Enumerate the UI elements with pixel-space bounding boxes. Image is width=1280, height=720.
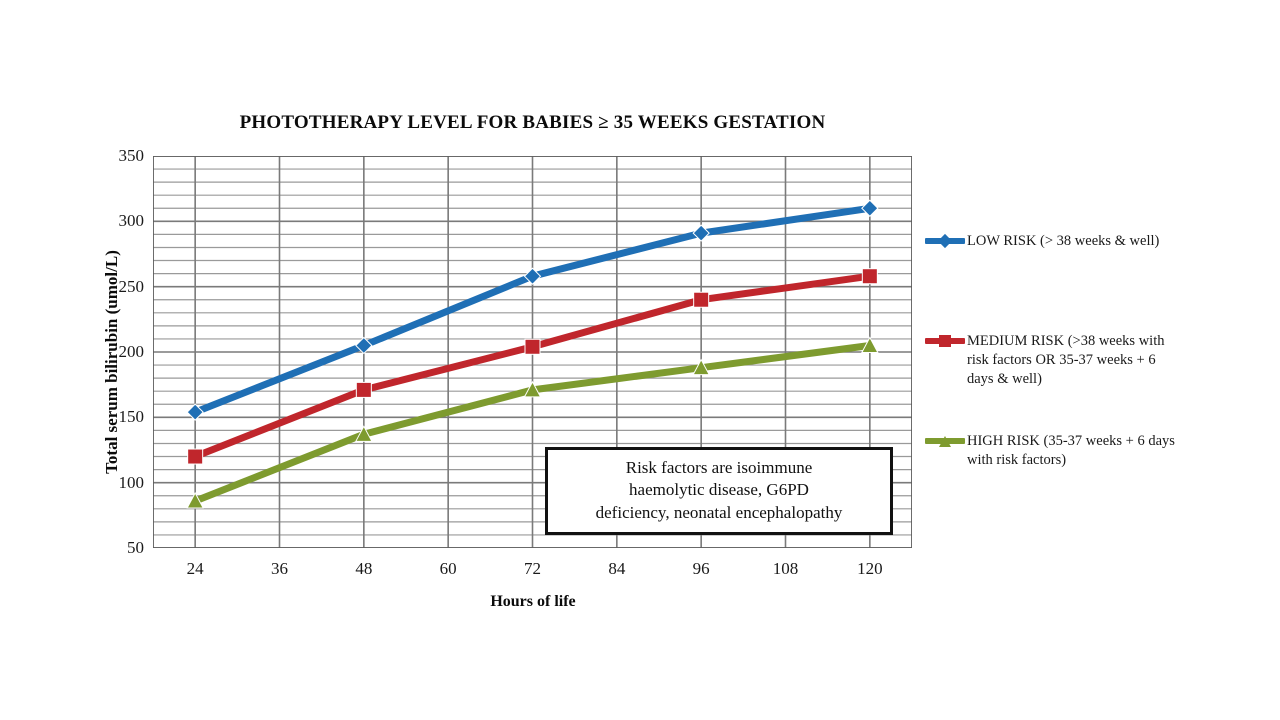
legend-item[interactable]: MEDIUM RISK (>38 weeks with risk factors… xyxy=(925,332,1175,389)
y-tick-label: 200 xyxy=(84,343,144,360)
y-axis-tick-labels: 50100150200250300350 xyxy=(78,156,144,548)
x-axis-tick-labels: 24364860728496108120 xyxy=(153,560,912,586)
data-point-marker xyxy=(862,269,877,284)
x-tick-label: 84 xyxy=(587,560,647,577)
annotation-line-2: haemolytic disease, G6PD xyxy=(556,479,882,501)
x-tick-label: 120 xyxy=(840,560,900,577)
data-point-marker xyxy=(188,449,203,464)
x-tick-label: 108 xyxy=(756,560,816,577)
legend-item[interactable]: LOW RISK (> 38 weeks & well) xyxy=(925,232,1175,251)
x-tick-label: 36 xyxy=(250,560,310,577)
data-point-marker xyxy=(356,382,371,397)
legend-label: LOW RISK (> 38 weeks & well) xyxy=(967,232,1159,251)
risk-factors-annotation: Risk factors are isoimmune haemolytic di… xyxy=(545,447,893,535)
y-tick-label: 300 xyxy=(84,212,144,229)
legend-label: MEDIUM RISK (>38 weeks with risk factors… xyxy=(967,332,1175,389)
data-point-marker xyxy=(693,225,709,241)
x-tick-label: 60 xyxy=(418,560,478,577)
legend-label: HIGH RISK (35-37 weeks + 6 days with ris… xyxy=(967,432,1175,470)
data-point-marker xyxy=(694,292,709,307)
data-point-marker xyxy=(862,200,878,216)
annotation-line-3: deficiency, neonatal encephalopathy xyxy=(556,502,882,524)
chart-legend: LOW RISK (> 38 weeks & well)MEDIUM RISK … xyxy=(925,232,1175,522)
y-tick-label: 250 xyxy=(84,278,144,295)
legend-marker-diamond-icon xyxy=(925,232,965,250)
y-tick-label: 50 xyxy=(84,539,144,556)
x-tick-label: 48 xyxy=(334,560,394,577)
y-tick-label: 100 xyxy=(84,474,144,491)
legend-marker-square-icon xyxy=(925,332,965,350)
legend-item[interactable]: HIGH RISK (35-37 weeks + 6 days with ris… xyxy=(925,432,1175,470)
data-point-marker xyxy=(525,339,540,354)
x-tick-label: 96 xyxy=(671,560,731,577)
annotation-line-1: Risk factors are isoimmune xyxy=(556,457,882,479)
y-tick-label: 350 xyxy=(84,147,144,164)
legend-marker-triangle-icon xyxy=(925,432,965,450)
x-axis-title: Hours of life xyxy=(153,593,913,611)
chart-canvas: PHOTOTHERAPY LEVEL FOR BABIES ≥ 35 WEEKS… xyxy=(0,0,1280,720)
x-tick-label: 24 xyxy=(165,560,225,577)
y-tick-label: 150 xyxy=(84,408,144,425)
x-tick-label: 72 xyxy=(503,560,563,577)
chart-title: PHOTOTHERAPY LEVEL FOR BABIES ≥ 35 WEEKS… xyxy=(0,112,1065,134)
